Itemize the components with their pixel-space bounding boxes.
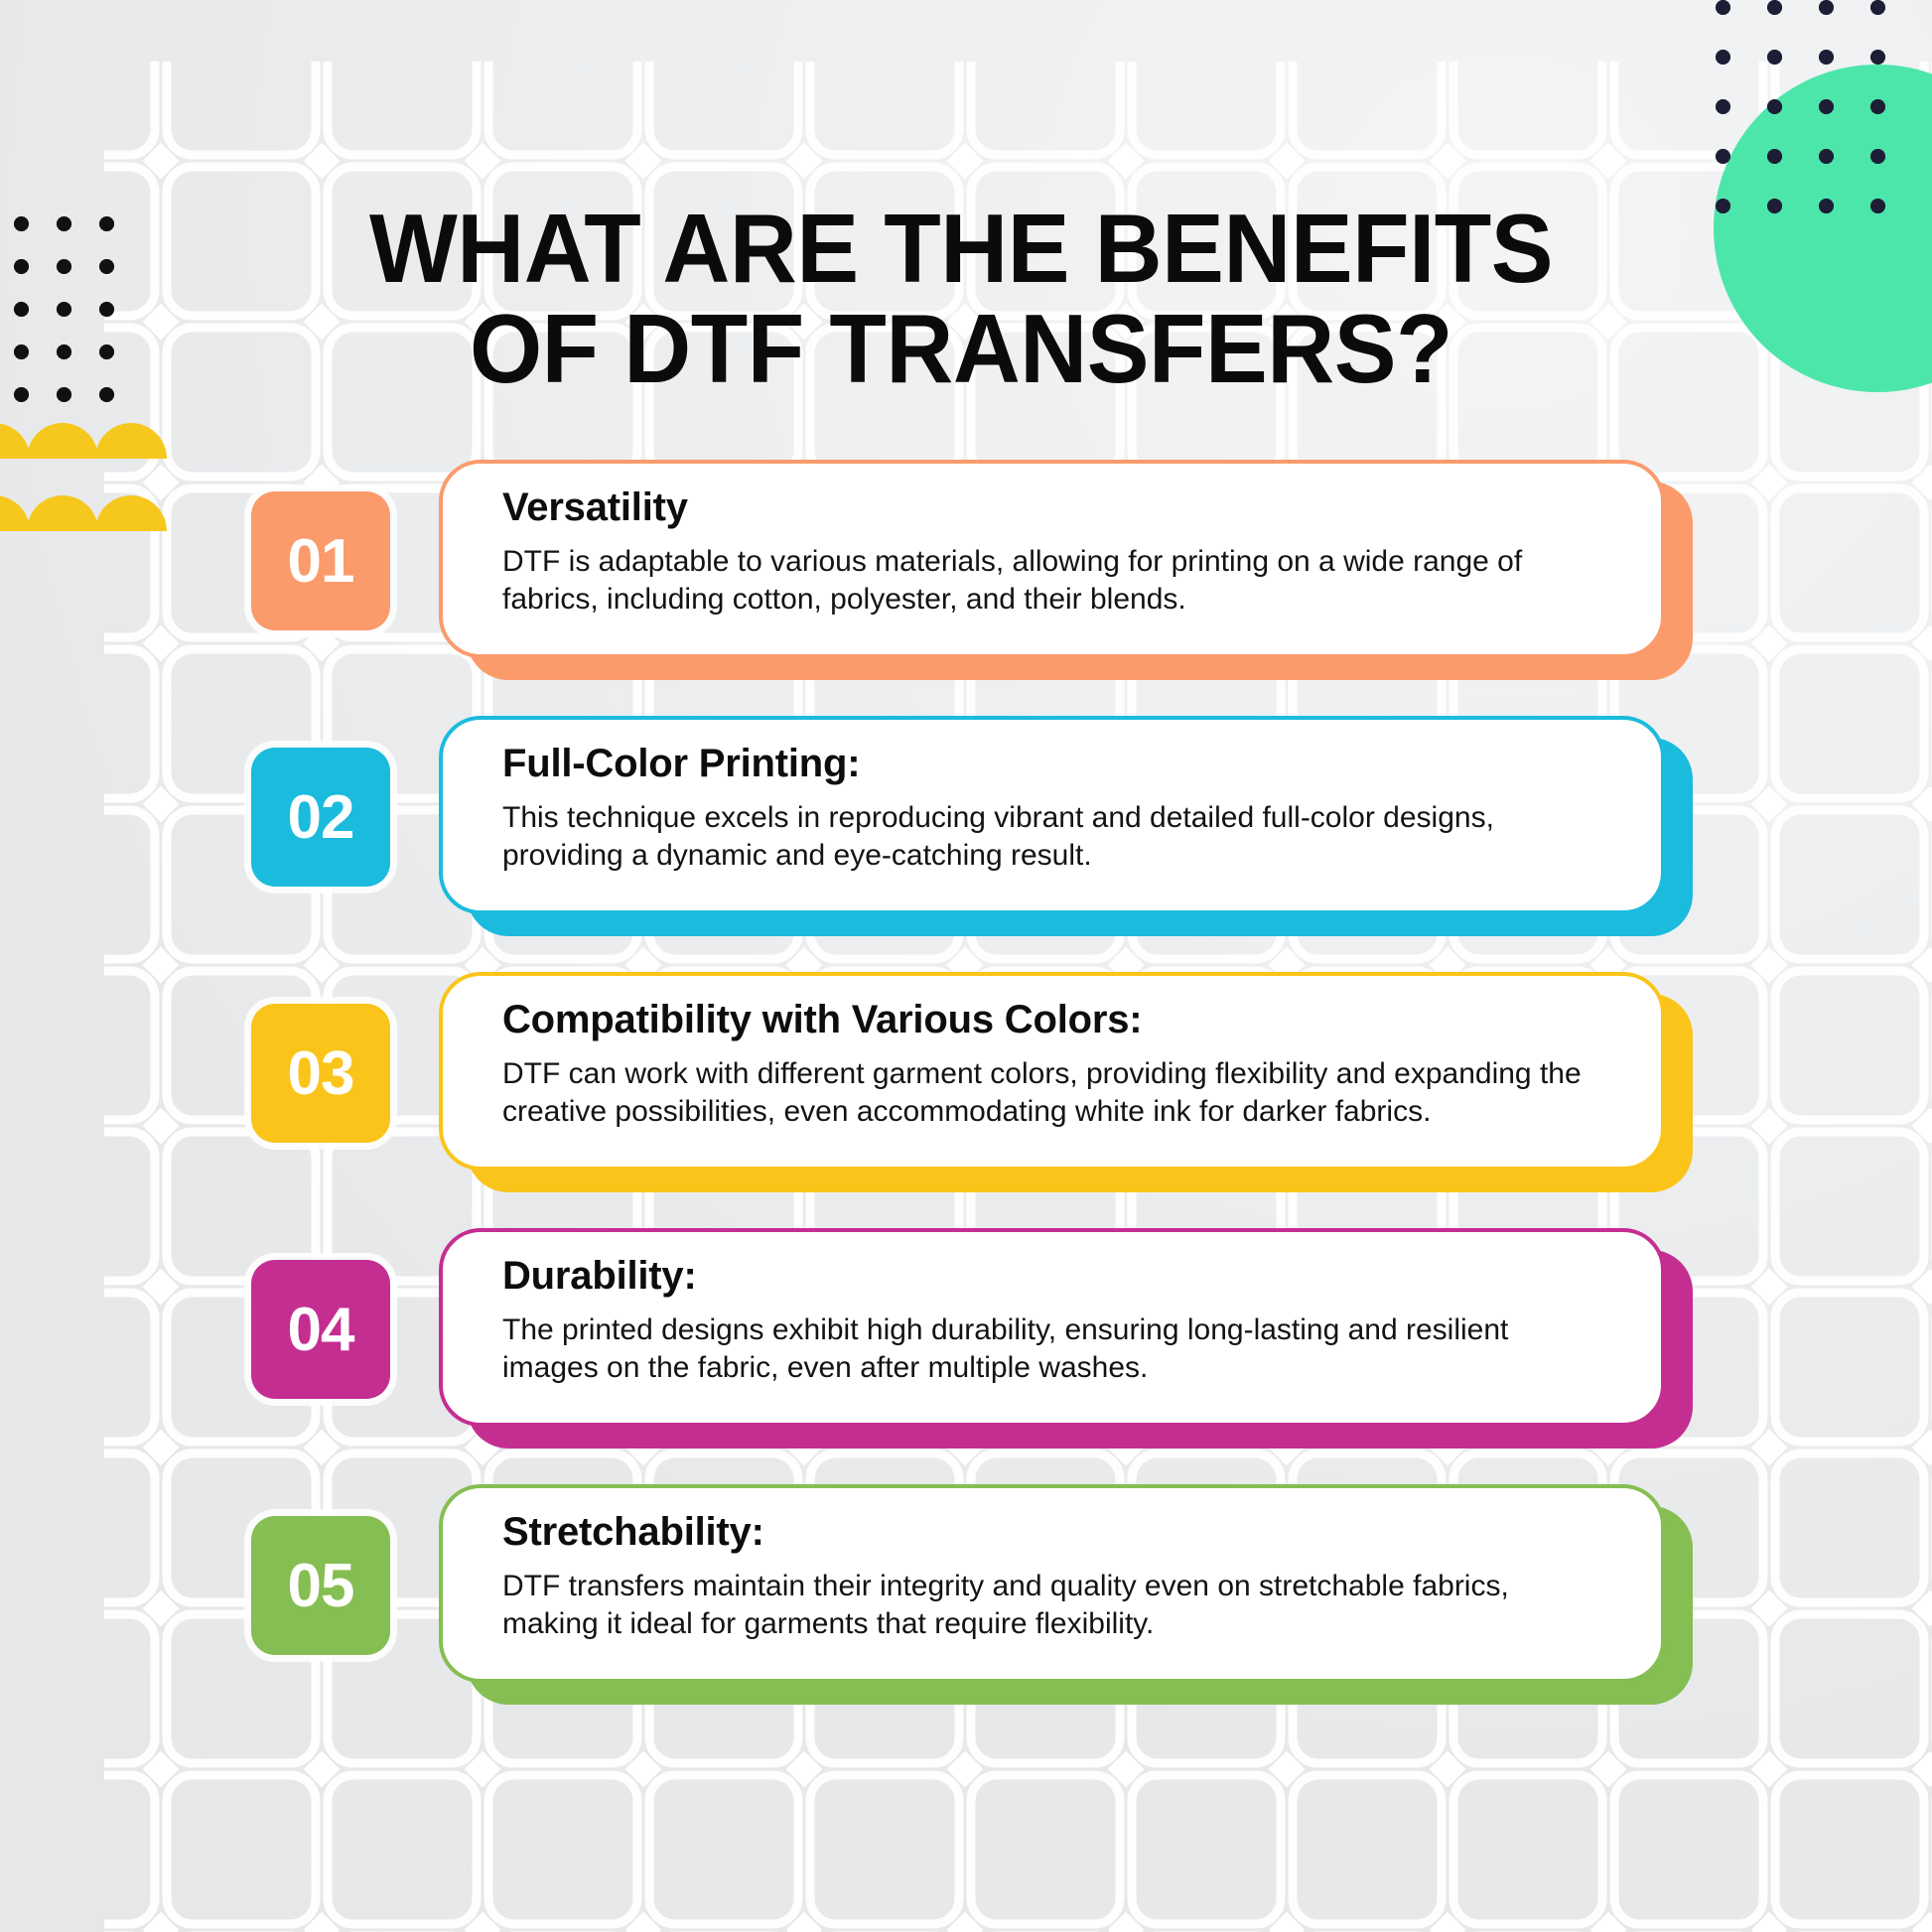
benefit-row: Stretchability: DTF transfers maintain t… (0, 1476, 1932, 1732)
card-body: DTF can work with different garment colo… (502, 1055, 1609, 1132)
page-title: WHAT ARE THE BENEFITS OF DTF TRANSFERS? (294, 199, 1628, 399)
benefit-row: Versatility DTF is adaptable to various … (0, 452, 1932, 708)
card-title: Durability: (502, 1254, 1609, 1298)
benefit-row: Full-Color Printing: This technique exce… (0, 708, 1932, 964)
benefits-card-list: Versatility DTF is adaptable to various … (0, 452, 1932, 1732)
card-title: Stretchability: (502, 1510, 1609, 1554)
card-title: Compatibility with Various Colors: (502, 998, 1609, 1041)
benefit-card[interactable]: Full-Color Printing: This technique exce… (439, 716, 1665, 914)
card-number-badge: 01 (251, 491, 390, 630)
card-number-badge: 03 (251, 1004, 390, 1143)
benefit-row: Durability: The printed designs exhibit … (0, 1220, 1932, 1476)
dot-grid-decoration-left (14, 216, 123, 415)
card-text-block: Compatibility with Various Colors: DTF c… (502, 998, 1609, 1132)
benefit-card[interactable]: Versatility DTF is adaptable to various … (439, 460, 1665, 658)
card-text-block: Full-Color Printing: This technique exce… (502, 742, 1609, 876)
card-body: DTF transfers maintain their integrity a… (502, 1568, 1609, 1644)
card-number-badge: 02 (251, 748, 390, 887)
benefit-card[interactable]: Compatibility with Various Colors: DTF c… (439, 972, 1665, 1171)
card-body: The printed designs exhibit high durabil… (502, 1311, 1609, 1388)
card-number-badge: 05 (251, 1516, 390, 1655)
card-body: DTF is adaptable to various materials, a… (502, 543, 1609, 620)
card-body: This technique excels in reproducing vib… (502, 799, 1609, 876)
card-text-block: Versatility DTF is adaptable to various … (502, 485, 1609, 620)
card-text-block: Stretchability: DTF transfers maintain t… (502, 1510, 1609, 1644)
card-title: Versatility (502, 485, 1609, 529)
card-title: Full-Color Printing: (502, 742, 1609, 785)
benefit-row: Compatibility with Various Colors: DTF c… (0, 964, 1932, 1220)
card-text-block: Durability: The printed designs exhibit … (502, 1254, 1609, 1388)
card-number-badge: 04 (251, 1260, 390, 1399)
benefit-card[interactable]: Stretchability: DTF transfers maintain t… (439, 1484, 1665, 1683)
dot-grid-decoration-top-right (1716, 0, 1914, 228)
benefit-card[interactable]: Durability: The printed designs exhibit … (439, 1228, 1665, 1427)
